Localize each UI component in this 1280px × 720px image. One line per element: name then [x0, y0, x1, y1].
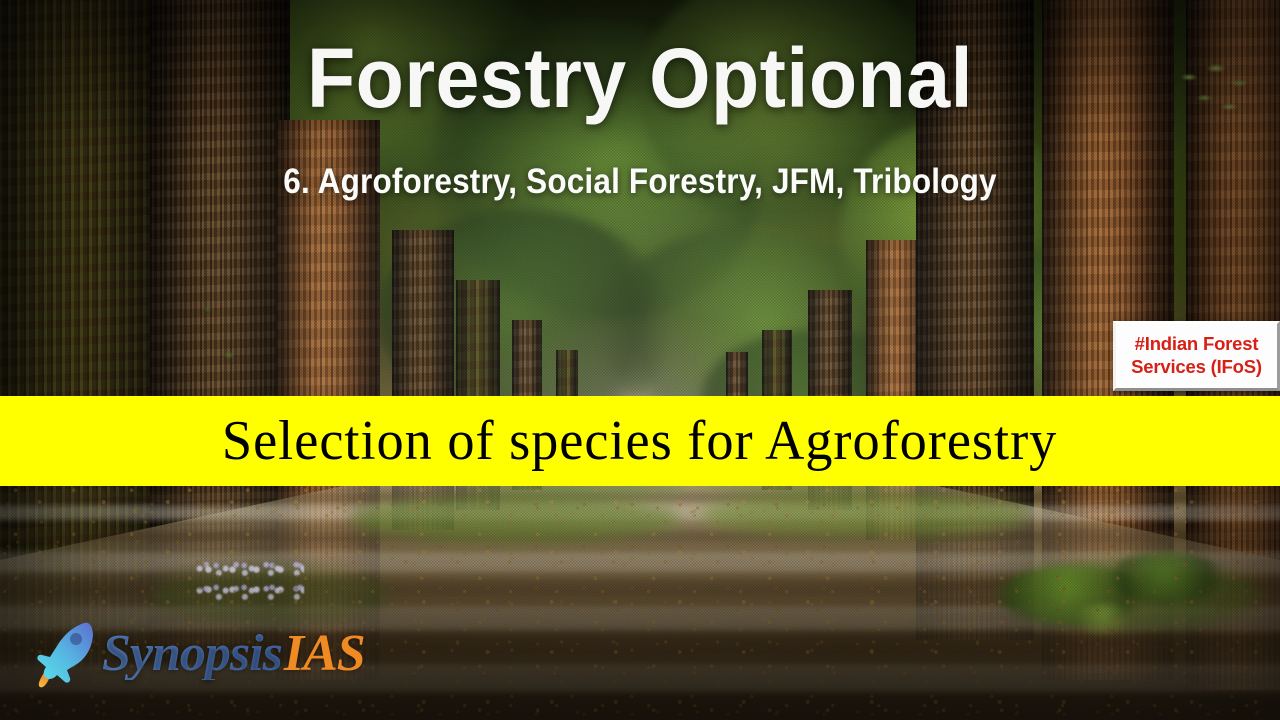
brand-secondary: IAS — [284, 628, 365, 680]
brand-wordmark: Synopsis IAS — [102, 628, 365, 680]
status-badge: #Indian Forest Services (IFoS) — [1113, 321, 1280, 391]
rocket-icon — [30, 619, 96, 689]
badge-text: #Indian Forest Services (IFoS) — [1131, 333, 1262, 378]
page-title: Forestry Optional — [38, 36, 1241, 120]
brand-logo[interactable]: Synopsis IAS — [30, 612, 410, 696]
page-subtitle: 6. Agroforestry, Social Forestry, JFM, T… — [64, 163, 1216, 202]
badge-line-2: Services (IFoS) — [1131, 356, 1262, 377]
presentation-slide: Forestry Optional 6. Agroforestry, Socia… — [0, 0, 1280, 720]
badge-line-1: #Indian Forest — [1135, 333, 1259, 354]
banner-heading: Selection of species for Agroforestry — [222, 413, 1057, 469]
topic-banner: Selection of species for Agroforestry — [0, 396, 1280, 486]
brand-primary: Synopsis — [102, 628, 282, 680]
